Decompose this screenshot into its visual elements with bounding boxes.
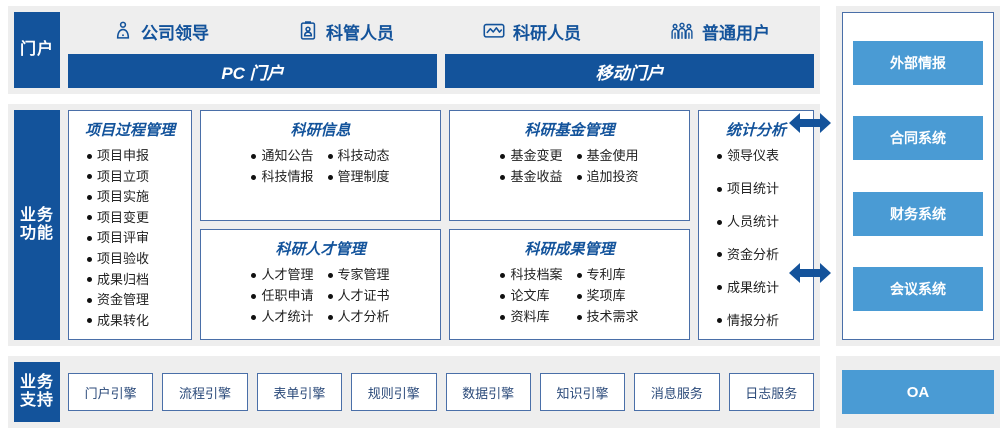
list-item-label: 资金管理 bbox=[97, 290, 149, 310]
portal-role-general-user[interactable]: 普通用户 bbox=[669, 19, 770, 44]
bullet-dot-icon bbox=[87, 277, 92, 282]
bullet-dot-icon bbox=[251, 154, 256, 159]
bullet-dot-icon bbox=[87, 174, 92, 179]
list-item-label: 领导仪表 bbox=[727, 146, 779, 166]
mid-column-fund-achievement: 科研基金管理 基金变更 基金收益 基金使用 追加投资 bbox=[449, 110, 690, 340]
external-system-meeting[interactable]: 会议系统 bbox=[853, 267, 983, 311]
list-item[interactable]: 人才统计 bbox=[251, 307, 313, 327]
bullet-dot-icon bbox=[87, 236, 92, 241]
business-support-layer-label-text: 业务支持 bbox=[16, 374, 58, 410]
list-item-label: 专家管理 bbox=[338, 265, 390, 285]
card-item-list: 基金变更 基金收益 基金使用 追加投资 bbox=[456, 146, 683, 187]
card-title: 科研基金管理 bbox=[524, 119, 614, 140]
external-systems-box: 外部情报 合同系统 财务系统 会议系统 bbox=[842, 12, 994, 340]
list-item[interactable]: 专利库 bbox=[577, 265, 639, 285]
engine-knowledge[interactable]: 知识引擎 bbox=[540, 373, 625, 411]
chart-monitor-icon bbox=[482, 20, 506, 42]
bullet-dot-icon bbox=[577, 315, 582, 320]
list-item[interactable]: 资料库 bbox=[500, 307, 562, 327]
portal-role-executive[interactable]: 公司领导 bbox=[112, 19, 209, 44]
business-support-layer: 业务支持 门户引擎 流程引擎 表单引擎 规则引擎 数据引擎 知识引擎 消息服务 … bbox=[8, 356, 820, 428]
list-item-label: 情报分析 bbox=[727, 311, 779, 331]
list-item[interactable]: 情报分析 bbox=[717, 311, 779, 331]
bullet-dot-icon bbox=[717, 187, 722, 192]
bullet-dot-icon bbox=[577, 273, 582, 278]
list-item[interactable]: 成果统计 bbox=[717, 278, 779, 298]
portal-role-researcher[interactable]: 科研人员 bbox=[482, 19, 581, 44]
user-group-icon bbox=[669, 20, 695, 42]
list-item[interactable]: 资金管理 bbox=[87, 290, 149, 310]
list-item[interactable]: 论文库 bbox=[500, 286, 562, 306]
bullet-dot-icon bbox=[717, 252, 722, 257]
engine-workflow[interactable]: 流程引擎 bbox=[162, 373, 247, 411]
list-item-label: 管理制度 bbox=[338, 167, 390, 187]
list-item-label: 项目立项 bbox=[97, 167, 149, 187]
bullet-dot-icon bbox=[87, 195, 92, 200]
card-research-talent-management[interactable]: 科研人才管理 人才管理 任职申请 人才统计 专家管理 人才证书 人才分析 bbox=[200, 229, 441, 340]
executive-person-icon bbox=[112, 20, 134, 42]
bullet-dot-icon bbox=[328, 294, 333, 299]
list-item[interactable]: 科技档案 bbox=[500, 265, 562, 285]
portal-layer-label: 门户 bbox=[14, 12, 60, 88]
list-item[interactable]: 项目变更 bbox=[87, 208, 149, 228]
portal-layer-label-text: 门户 bbox=[20, 41, 54, 59]
list-item[interactable]: 项目评审 bbox=[87, 228, 149, 248]
card-title: 科研人才管理 bbox=[275, 238, 365, 259]
portal-bar-mobile[interactable]: 移动门户 bbox=[445, 54, 814, 88]
engine-rule[interactable]: 规则引擎 bbox=[351, 373, 436, 411]
card-item-col-right: 专利库 奖项库 技术需求 bbox=[577, 265, 639, 327]
main-column: 门户 公司领导 bbox=[8, 6, 820, 430]
list-item[interactable]: 追加投资 bbox=[577, 167, 639, 187]
bullet-dot-icon bbox=[87, 318, 92, 323]
list-item-label: 成果归档 bbox=[97, 270, 149, 290]
bullet-dot-icon bbox=[577, 294, 582, 299]
portal-role-label: 科研人员 bbox=[513, 19, 581, 44]
list-item[interactable]: 基金收益 bbox=[500, 167, 562, 187]
card-research-information[interactable]: 科研信息 通知公告 科技情报 科技动态 管理制度 bbox=[200, 110, 441, 221]
bullet-dot-icon bbox=[328, 175, 333, 180]
list-item-label: 资料库 bbox=[510, 307, 549, 327]
bullet-dot-icon bbox=[717, 318, 722, 323]
list-item-label: 基金变更 bbox=[510, 146, 562, 166]
list-item-label: 人才分析 bbox=[338, 307, 390, 327]
card-item-col-left: 通知公告 科技情报 bbox=[251, 146, 313, 187]
list-item-label: 成果转化 bbox=[97, 311, 149, 331]
list-item[interactable]: 人员统计 bbox=[717, 212, 779, 232]
business-functions-layer-label-text: 业务功能 bbox=[16, 207, 58, 243]
portal-bar-pc[interactable]: PC 门户 bbox=[68, 54, 437, 88]
service-log[interactable]: 日志服务 bbox=[729, 373, 814, 411]
card-research-fund-management[interactable]: 科研基金管理 基金变更 基金收益 基金使用 追加投资 bbox=[449, 110, 690, 221]
list-item[interactable]: 通知公告 bbox=[251, 146, 313, 166]
portal-role-label: 普通用户 bbox=[702, 19, 770, 44]
card-item-list: 通知公告 科技情报 科技动态 管理制度 bbox=[207, 146, 434, 187]
engine-form[interactable]: 表单引擎 bbox=[257, 373, 342, 411]
list-item[interactable]: 资金分析 bbox=[717, 245, 779, 265]
list-item-label: 任职申请 bbox=[261, 286, 313, 306]
bullet-dot-icon bbox=[717, 154, 722, 159]
card-item-col-left: 基金变更 基金收益 bbox=[500, 146, 562, 187]
card-title: 科研信息 bbox=[290, 119, 350, 140]
business-functions-body: 项目过程管理 项目申报 项目立项 项目实施 项目变更 项目评审 项目验收 成果归… bbox=[60, 110, 814, 340]
list-item[interactable]: 项目统计 bbox=[717, 179, 779, 199]
list-item[interactable]: 人才管理 bbox=[251, 265, 313, 285]
business-functions-layer: 业务功能 项目过程管理 项目申报 项目立项 项目实施 项目变更 项目评审 项目验… bbox=[8, 104, 820, 346]
list-item[interactable]: 奖项库 bbox=[577, 286, 639, 306]
list-item-label: 项目实施 bbox=[97, 187, 149, 207]
external-system-intelligence[interactable]: 外部情报 bbox=[853, 41, 983, 85]
list-item-label: 项目变更 bbox=[97, 208, 149, 228]
list-item-label: 项目申报 bbox=[97, 146, 149, 166]
bullet-dot-icon bbox=[717, 220, 722, 225]
card-statistical-analysis[interactable]: 统计分析 领导仪表 项目统计 人员统计 资金分析 成果统计 情报分析 bbox=[698, 110, 814, 340]
list-item-label: 通知公告 bbox=[261, 146, 313, 166]
list-item[interactable]: 任职申请 bbox=[251, 286, 313, 306]
bullet-dot-icon bbox=[87, 154, 92, 159]
portal-layer: 门户 公司领导 bbox=[8, 6, 820, 94]
card-item-col-left: 人才管理 任职申请 人才统计 bbox=[251, 265, 313, 327]
bullet-dot-icon bbox=[500, 315, 505, 320]
external-systems-layer: 外部情报 合同系统 财务系统 会议系统 bbox=[836, 6, 1000, 346]
card-item-list: 领导仪表 项目统计 人员统计 资金分析 成果统计 情报分析 bbox=[705, 146, 807, 331]
list-item-label: 技术需求 bbox=[587, 307, 639, 327]
card-title: 统计分析 bbox=[726, 119, 786, 140]
list-item[interactable]: 成果归档 bbox=[87, 270, 149, 290]
bullet-dot-icon bbox=[577, 154, 582, 159]
list-item[interactable]: 人才证书 bbox=[328, 286, 390, 306]
list-item-label: 人才统计 bbox=[261, 307, 313, 327]
list-item-label: 奖项库 bbox=[587, 286, 626, 306]
bullet-dot-icon bbox=[87, 257, 92, 262]
card-item-col-left: 科技档案 论文库 资料库 bbox=[500, 265, 562, 327]
card-item-list: 科技档案 论文库 资料库 专利库 奖项库 技术需求 bbox=[456, 265, 683, 327]
card-item-list: 项目申报 项目立项 项目实施 项目变更 项目评审 项目验收 成果归档 资金管理 … bbox=[75, 146, 185, 331]
portal-role-row: 公司领导 科管人员 bbox=[68, 12, 814, 50]
engine-data[interactable]: 数据引擎 bbox=[446, 373, 531, 411]
bullet-dot-icon bbox=[577, 175, 582, 180]
external-system-contract[interactable]: 合同系统 bbox=[853, 116, 983, 160]
list-item-label: 人才管理 bbox=[261, 265, 313, 285]
list-item[interactable]: 项目实施 bbox=[87, 187, 149, 207]
list-item-label: 成果统计 bbox=[727, 278, 779, 298]
bullet-dot-icon bbox=[251, 294, 256, 299]
list-item[interactable]: 基金变更 bbox=[500, 146, 562, 166]
list-item-label: 追加投资 bbox=[587, 167, 639, 187]
bullet-dot-icon bbox=[251, 273, 256, 278]
list-item[interactable]: 领导仪表 bbox=[717, 146, 779, 166]
bullet-dot-icon bbox=[500, 294, 505, 299]
portal-role-label: 公司领导 bbox=[141, 19, 209, 44]
list-item-label: 人才证书 bbox=[338, 286, 390, 306]
list-item[interactable]: 项目验收 bbox=[87, 249, 149, 269]
list-item[interactable]: 项目申报 bbox=[87, 146, 149, 166]
bullet-dot-icon bbox=[251, 175, 256, 180]
list-item[interactable]: 科技动态 bbox=[328, 146, 390, 166]
bullet-dot-icon bbox=[87, 298, 92, 303]
list-item[interactable]: 成果转化 bbox=[87, 311, 149, 331]
list-item-label: 基金收益 bbox=[510, 167, 562, 187]
business-support-layer-label: 业务支持 bbox=[14, 362, 60, 422]
list-item[interactable]: 人才分析 bbox=[328, 307, 390, 327]
card-title: 项目过程管理 bbox=[85, 119, 175, 140]
list-item[interactable]: 基金使用 bbox=[577, 146, 639, 166]
architecture-diagram: 门户 公司领导 bbox=[0, 0, 1000, 436]
bullet-dot-icon bbox=[717, 285, 722, 290]
card-item-col-right: 专家管理 人才证书 人才分析 bbox=[328, 265, 390, 327]
card-project-process-management[interactable]: 项目过程管理 项目申报 项目立项 项目实施 项目变更 项目评审 项目验收 成果归… bbox=[68, 110, 192, 340]
external-systems-column: 外部情报 合同系统 财务系统 会议系统 OA bbox=[836, 6, 1000, 430]
list-item-label: 人员统计 bbox=[727, 212, 779, 232]
portal-body: 公司领导 科管人员 bbox=[60, 12, 814, 88]
portal-bar-row: PC 门户 移动门户 bbox=[68, 54, 814, 88]
list-item-label: 资金分析 bbox=[727, 245, 779, 265]
list-item[interactable]: 项目立项 bbox=[87, 167, 149, 187]
engine-portal[interactable]: 门户引擎 bbox=[68, 373, 153, 411]
list-item[interactable]: 科技情报 bbox=[251, 167, 313, 187]
list-item[interactable]: 技术需求 bbox=[577, 307, 639, 327]
list-item-label: 科技动态 bbox=[338, 146, 390, 166]
bullet-dot-icon bbox=[328, 154, 333, 159]
mid-column-information-talent: 科研信息 通知公告 科技情报 科技动态 管理制度 bbox=[200, 110, 441, 340]
card-title: 科研成果管理 bbox=[524, 238, 614, 259]
list-item-label: 项目统计 bbox=[727, 179, 779, 199]
service-message[interactable]: 消息服务 bbox=[634, 373, 719, 411]
list-item-label: 项目验收 bbox=[97, 249, 149, 269]
bullet-dot-icon bbox=[500, 154, 505, 159]
bullet-dot-icon bbox=[87, 215, 92, 220]
list-item-label: 基金使用 bbox=[587, 146, 639, 166]
bullet-dot-icon bbox=[500, 175, 505, 180]
portal-role-label: 科管人员 bbox=[326, 19, 394, 44]
bullet-dot-icon bbox=[328, 315, 333, 320]
id-badge-person-icon bbox=[297, 20, 319, 42]
external-system-oa[interactable]: OA bbox=[842, 370, 994, 414]
list-item[interactable]: 专家管理 bbox=[328, 265, 390, 285]
card-item-list: 人才管理 任职申请 人才统计 专家管理 人才证书 人才分析 bbox=[207, 265, 434, 327]
list-item-label: 论文库 bbox=[510, 286, 549, 306]
bullet-dot-icon bbox=[251, 315, 256, 320]
card-research-achievement-management[interactable]: 科研成果管理 科技档案 论文库 资料库 专利库 奖项库 技术需求 bbox=[449, 229, 690, 340]
list-item[interactable]: 管理制度 bbox=[328, 167, 390, 187]
oa-layer: OA bbox=[836, 356, 1000, 428]
card-item-col-right: 基金使用 追加投资 bbox=[577, 146, 639, 187]
external-system-finance[interactable]: 财务系统 bbox=[853, 192, 983, 236]
card-item-col-right: 科技动态 管理制度 bbox=[328, 146, 390, 187]
portal-role-manager[interactable]: 科管人员 bbox=[297, 19, 394, 44]
list-item-label: 项目评审 bbox=[97, 228, 149, 248]
list-item-label: 科技档案 bbox=[510, 265, 562, 285]
business-support-body: 门户引擎 流程引擎 表单引擎 规则引擎 数据引擎 知识引擎 消息服务 日志服务 bbox=[60, 362, 814, 422]
business-functions-layer-label: 业务功能 bbox=[14, 110, 60, 340]
bullet-dot-icon bbox=[500, 273, 505, 278]
bullet-dot-icon bbox=[328, 273, 333, 278]
list-item-label: 专利库 bbox=[587, 265, 626, 285]
list-item-label: 科技情报 bbox=[261, 167, 313, 187]
